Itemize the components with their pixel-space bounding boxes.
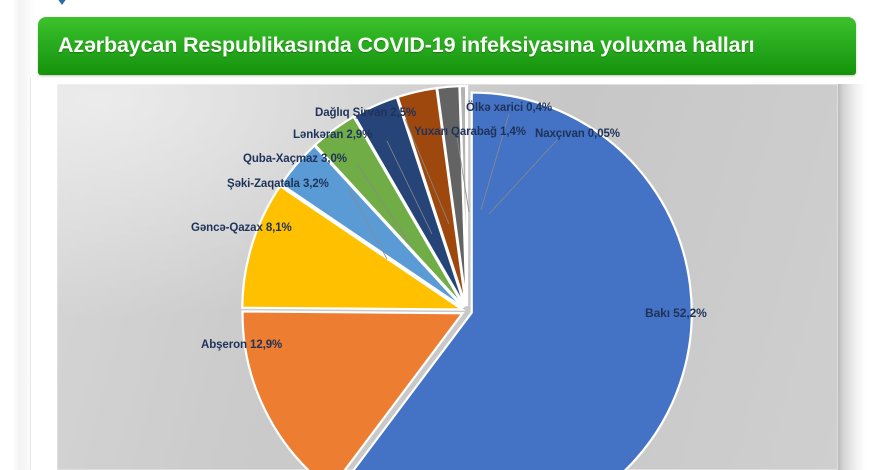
pie-label-dagliq-sirvan: Dağlıq Şirvan 2,5% — [315, 107, 416, 119]
pie-svg — [57, 84, 838, 470]
plot-area: Bakı 52,2% Abşeron 12,9% Gəncə-Qazax 8,1… — [57, 84, 838, 470]
pie-label-abseron: Abşeron 12,9% — [201, 339, 282, 351]
triangle-down-icon — [54, 0, 70, 8]
pie-label-baki: Bakı 52,2% — [645, 306, 707, 320]
pie-chart[interactable] — [57, 84, 838, 470]
pie-label-quba-xacmaz: Quba-Xaçmaz 3,0% — [243, 153, 347, 165]
pie-label-lenkeran: Lənkəran 2,9% — [293, 129, 372, 141]
pie-slices — [242, 86, 692, 470]
pie-label-gence-qazax: Gəncə-Qazax 8,1% — [191, 222, 292, 234]
pie-label-yuxari-qarabag: Yuxarı Qarabağ 1,4% — [414, 126, 526, 138]
slide-canvas: Azərbaycan Respublikasında COVID-19 infe… — [0, 0, 880, 470]
pie-label-naxcivan: Naxçıvan 0,05% — [535, 128, 620, 140]
plot-right-gutter — [838, 84, 866, 470]
pie-label-olke-xarici: Ölkə xarici 0,4% — [466, 102, 552, 114]
chart-frame: Bakı 52,2% Abşeron 12,9% Gəncə-Qazax 8,1… — [30, 78, 865, 470]
page-title: Azərbaycan Respublikasında COVID-19 infe… — [58, 33, 846, 58]
pie-label-seki-zaqatala: Şəki-Zaqatala 3,2% — [227, 178, 329, 190]
chart-title-bar: Azərbaycan Respublikasında COVID-19 infe… — [38, 17, 856, 75]
